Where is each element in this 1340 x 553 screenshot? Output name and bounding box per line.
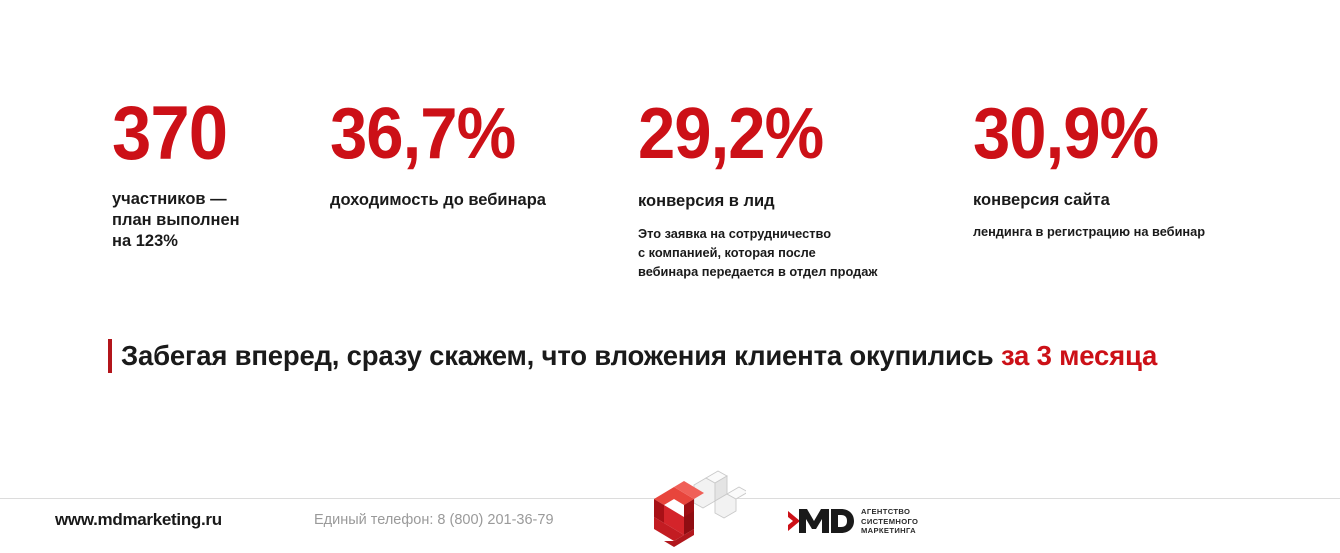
stat-value: 29,2% bbox=[638, 95, 861, 173]
headline-text: Забегая вперед, сразу скажем, что вложен… bbox=[121, 339, 1157, 373]
stat-value: 370 bbox=[112, 95, 231, 173]
cube-emblem-icon bbox=[636, 465, 746, 553]
grey-blocks bbox=[694, 471, 746, 518]
stat-block-site-conversion: 30,9% конверсия сайта лендинга в регистр… bbox=[973, 95, 1205, 241]
md-logo-tagline: Агентство системного маркетинга bbox=[861, 507, 918, 536]
stat-value: 30,9% bbox=[973, 95, 1189, 173]
stat-label: участников — план выполнен на 123% bbox=[112, 189, 240, 252]
phone-number[interactable]: Единый телефон: 8 (800) 201-36-79 bbox=[314, 512, 554, 528]
website-url[interactable]: www.mdmarketing.ru bbox=[55, 510, 222, 530]
stat-note: Это заявка на сотрудничество с компанией… bbox=[638, 224, 877, 281]
footer: www.mdmarketing.ru Единый телефон: 8 (80… bbox=[0, 499, 1340, 553]
md-logo-mark-icon bbox=[788, 507, 854, 535]
md-logo[interactable]: Агентство системного маркетинга bbox=[788, 507, 918, 536]
headline: Забегая вперед, сразу скажем, что вложен… bbox=[108, 339, 1157, 373]
stat-block-participants: 370 участников — план выполнен на 123% bbox=[112, 95, 240, 252]
headline-text-accent: за 3 месяца bbox=[1001, 340, 1157, 371]
stat-value: 36,7% bbox=[330, 95, 531, 173]
headline-text-main: Забегая вперед, сразу скажем, что вложен… bbox=[121, 340, 1001, 371]
stat-block-lead-conversion: 29,2% конверсия в лид Это заявка на сотр… bbox=[638, 95, 877, 281]
stat-note: лендинга в регистрацию на вебинар bbox=[973, 222, 1205, 241]
stats-row: 370 участников — план выполнен на 123% 3… bbox=[0, 95, 1340, 305]
red-arrow bbox=[654, 481, 704, 547]
stat-label: конверсия в лид bbox=[638, 191, 877, 212]
headline-accent-bar bbox=[108, 339, 112, 373]
stat-block-attendance: 36,7% доходимость до вебинара bbox=[330, 95, 546, 211]
presentation-slide: 370 участников — план выполнен на 123% 3… bbox=[0, 0, 1340, 553]
stat-label: конверсия сайта bbox=[973, 190, 1205, 211]
stat-label: доходимость до вебинара bbox=[330, 190, 546, 211]
